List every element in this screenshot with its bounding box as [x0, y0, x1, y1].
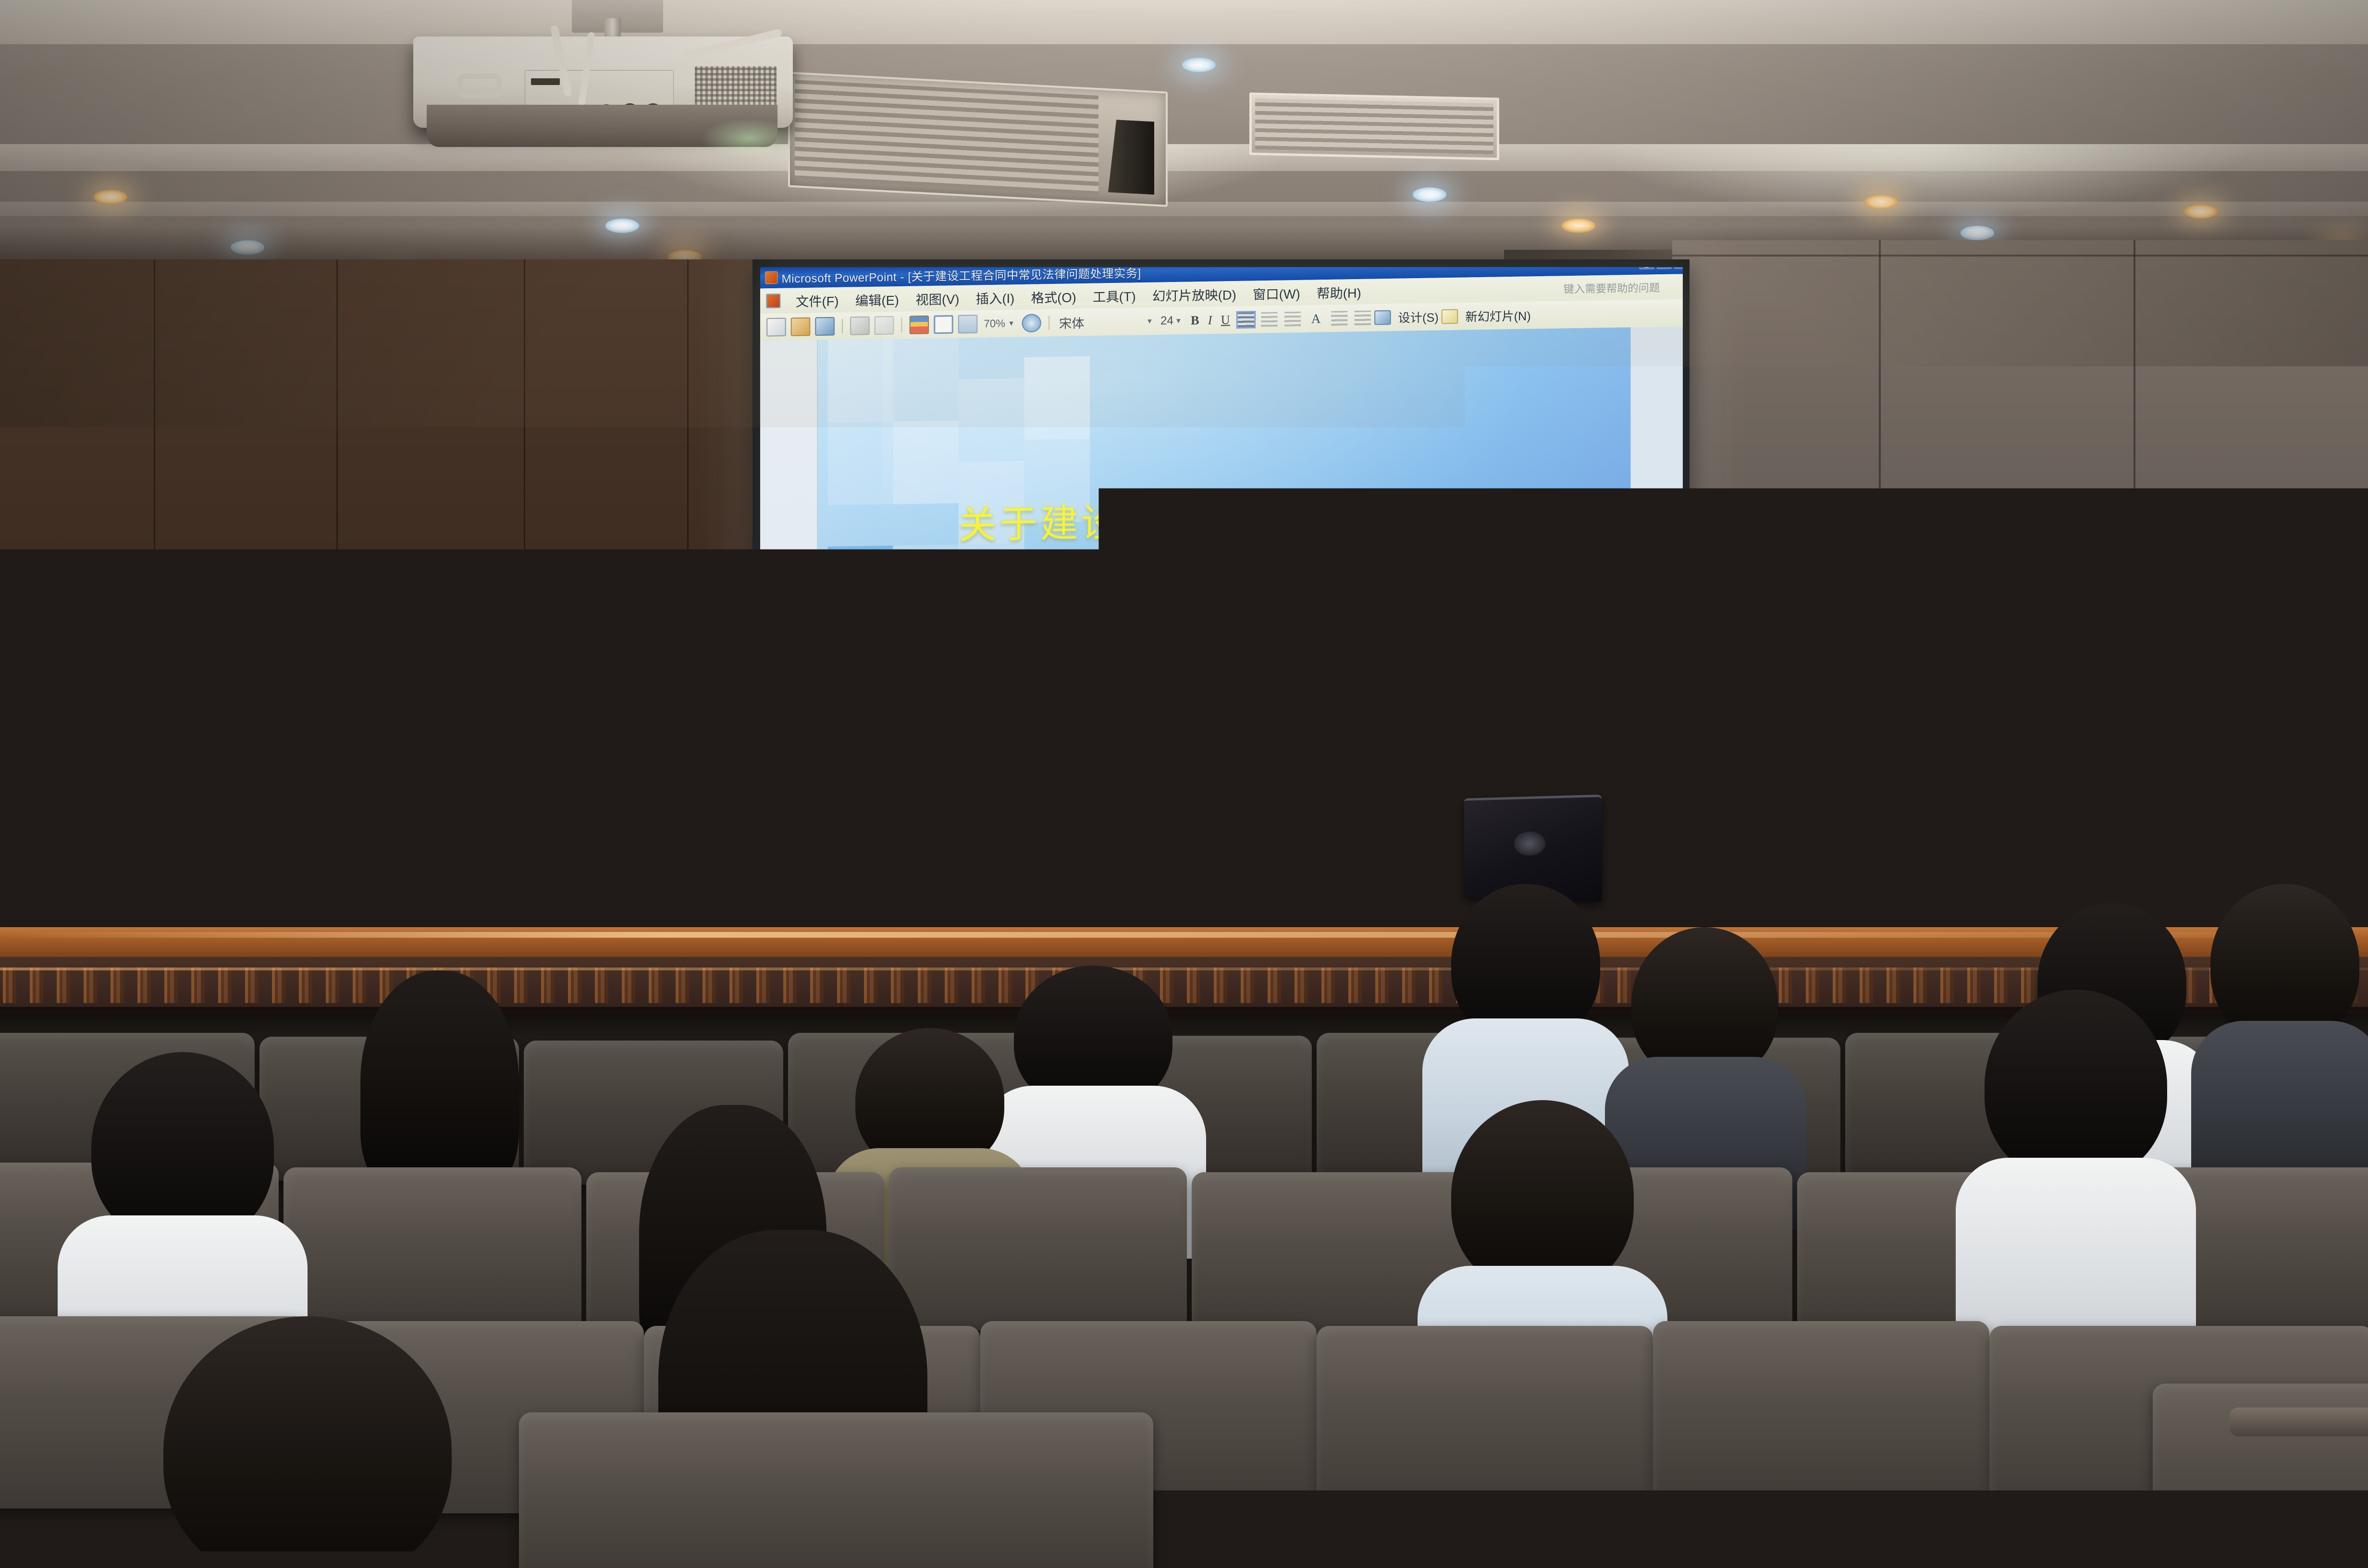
- increase-indent-button[interactable]: [1354, 310, 1370, 325]
- audience-member: [115, 1316, 490, 1568]
- person-head: [2210, 884, 2359, 1042]
- hvac-vent-small: [1249, 93, 1499, 160]
- water-bottle: [1250, 848, 1272, 905]
- preview-icon[interactable]: [875, 316, 894, 335]
- water-bottle: [1218, 850, 1240, 907]
- audience-member: [1321, 1211, 1696, 1568]
- draw-menu[interactable]: 绘图(R): [768, 893, 809, 911]
- powerpoint-icon: [765, 271, 777, 284]
- presenter-microphone-head: [1630, 739, 1651, 767]
- person-head: [1985, 990, 2167, 1182]
- menu-help[interactable]: 帮助(H): [1308, 282, 1369, 302]
- save-icon[interactable]: [815, 317, 834, 336]
- menu-view[interactable]: 视图(V): [907, 288, 967, 308]
- picture-icon[interactable]: [1159, 887, 1180, 905]
- italic-button[interactable]: I: [1208, 313, 1212, 328]
- presenter-mouth: [1577, 744, 1600, 751]
- audience-seat: [519, 1412, 1153, 1568]
- hvac-vent-large: [788, 72, 1168, 207]
- downlight-warm: [2184, 204, 2218, 219]
- align-center-button[interactable]: [1238, 312, 1254, 327]
- help-icon[interactable]: [1022, 314, 1041, 332]
- projector-cable: [683, 28, 783, 60]
- presenter-eye: [1566, 728, 1582, 733]
- person-shoulders: [115, 1556, 490, 1568]
- presenter-eye: [1600, 729, 1616, 734]
- diagram-icon[interactable]: [1103, 888, 1123, 906]
- water-bottle: [1185, 849, 1207, 906]
- rectangle-icon[interactable]: [990, 890, 1011, 907]
- downlight-cool: [1413, 187, 1446, 202]
- projector-lens-glow: [702, 119, 798, 158]
- audience-member: [1956, 990, 2196, 1384]
- lecture-hall-photo: Microsoft PowerPoint - [关于建设工程合同中常见法律问题处…: [0, 0, 2368, 1568]
- text-box-icon[interactable]: [1047, 889, 1067, 906]
- print-icon[interactable]: [850, 317, 869, 335]
- maximize-button[interactable]: □: [1657, 267, 1671, 269]
- menu-slideshow[interactable]: 幻灯片放映(D): [1144, 284, 1245, 305]
- minimize-button[interactable]: _: [1640, 267, 1654, 269]
- audience-seat: [284, 1167, 581, 1326]
- slide-sorter-view-button[interactable]: [791, 865, 810, 881]
- microphone-head: [459, 758, 471, 779]
- table-icon[interactable]: [934, 315, 953, 334]
- outline-pane[interactable]: [760, 340, 817, 857]
- bullets-button[interactable]: [1261, 312, 1278, 327]
- slideshow-view-button[interactable]: [815, 864, 834, 880]
- ceiling-soffit: [0, 0, 2368, 44]
- stage-chair: [557, 822, 750, 936]
- ask-a-question-box[interactable]: 键入需要帮助的问题: [1564, 279, 1660, 296]
- autoshapes-caret-icon: ▾: [920, 895, 924, 905]
- document-icon: [766, 294, 780, 308]
- slide-layout-icon[interactable]: [958, 315, 977, 333]
- decrease-indent-button[interactable]: [1331, 311, 1347, 326]
- new-icon[interactable]: [766, 318, 786, 336]
- slide-title[interactable]: 关于建设工程合同中常见法律 问题处理实务: [817, 488, 1630, 610]
- seat-armrest: [2230, 1408, 2368, 1436]
- presenter-hair: [1547, 672, 1630, 728]
- line-icon[interactable]: [934, 891, 954, 908]
- projector-handle: [457, 74, 502, 98]
- green-cup: [1307, 894, 1323, 917]
- underline-button[interactable]: U: [1221, 313, 1230, 328]
- design-icon[interactable]: [1374, 310, 1391, 325]
- new-slide-button[interactable]: 新幻灯片(N): [1465, 306, 1530, 325]
- draw-caret-icon: ▾: [812, 896, 816, 906]
- laptop-logo: [1514, 832, 1545, 856]
- arrow-icon[interactable]: [962, 890, 983, 908]
- bold-button[interactable]: B: [1191, 313, 1199, 328]
- cove-glow-2: [1586, 144, 2258, 216]
- stage-chair: [186, 825, 379, 936]
- select-objects-button[interactable]: [822, 891, 844, 911]
- menu-format[interactable]: 格式(O): [1023, 287, 1085, 306]
- vent-slats: [795, 80, 1098, 196]
- open-icon[interactable]: [791, 318, 810, 336]
- window-controls[interactable]: _ □ ×: [1640, 267, 1683, 269]
- word-art-icon[interactable]: [1074, 888, 1095, 906]
- font-color-button[interactable]: A: [1311, 311, 1321, 326]
- menu-window[interactable]: 窗口(W): [1245, 283, 1308, 303]
- audience-seat: [1653, 1321, 1989, 1518]
- font-size[interactable]: 24: [1160, 314, 1173, 328]
- design-button[interactable]: 设计(S): [1398, 308, 1438, 326]
- new-slide-icon[interactable]: [1442, 309, 1458, 324]
- downlight-warm: [94, 190, 127, 204]
- clip-art-icon[interactable]: [1131, 887, 1152, 905]
- close-button[interactable]: ×: [1675, 267, 1683, 269]
- zoom-level[interactable]: 70%: [984, 317, 1006, 330]
- drinking-glass: [1287, 907, 1306, 927]
- oval-icon[interactable]: [1018, 889, 1039, 907]
- vent-opening: [1108, 119, 1154, 195]
- downlight-warm: [1864, 195, 1898, 209]
- person-head: [163, 1316, 452, 1568]
- person-hair: [360, 970, 519, 1201]
- downlight-cool: [1182, 58, 1216, 72]
- normal-view-button[interactable]: [767, 865, 785, 881]
- font-name[interactable]: 宋体: [1059, 313, 1085, 331]
- menu-edit[interactable]: 编辑(E): [847, 289, 907, 309]
- chart-icon[interactable]: [910, 316, 929, 334]
- menu-insert[interactable]: 插入(I): [968, 288, 1023, 307]
- menu-tools[interactable]: 工具(T): [1085, 286, 1144, 306]
- audience-member: [2191, 884, 2368, 1191]
- vent-slats: [1255, 98, 1493, 154]
- numbering-button[interactable]: [1284, 312, 1301, 327]
- autoshapes-menu[interactable]: 自选图形(U): [851, 891, 917, 910]
- ceiling-projector: [413, 13, 793, 158]
- person-shoulders: [1321, 1436, 1696, 1568]
- menu-file[interactable]: 文件(F): [788, 290, 847, 310]
- stage-chair-armrest: [1759, 898, 1980, 928]
